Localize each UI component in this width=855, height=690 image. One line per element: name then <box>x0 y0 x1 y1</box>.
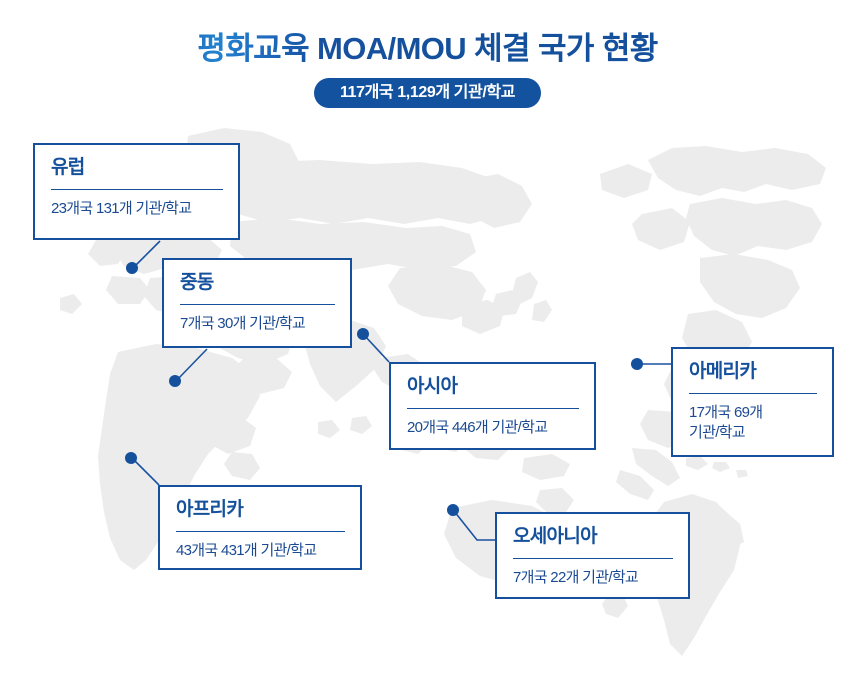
region-card-divider <box>407 408 579 409</box>
region-card-middle-east[interactable]: 중동 7개국 30개 기관/학교 <box>162 258 352 348</box>
region-title-america: 아메리카 <box>689 361 817 383</box>
region-card-divider <box>176 531 345 532</box>
region-card-europe[interactable]: 유럽 23개국 131개 기관/학교 <box>33 143 240 240</box>
infographic-root: 평화교육 MOA/MOU 체결 국가 현황 117개국 1,129개 기관/학교… <box>0 0 855 690</box>
region-title-europe: 유럽 <box>51 157 223 179</box>
region-card-oceania[interactable]: 오세아니아 7개국 22개 기관/학교 <box>495 512 690 599</box>
region-desc-america: 17개국 69개 기관/학교 <box>689 403 817 443</box>
header: 평화교육 MOA/MOU 체결 국가 현황 117개국 1,129개 기관/학교 <box>0 0 855 108</box>
region-card-america[interactable]: 아메리카 17개국 69개 기관/학교 <box>671 347 834 457</box>
region-card-divider <box>180 304 335 305</box>
region-desc-america-line1: 17개국 69개 <box>689 404 762 421</box>
region-card-asia[interactable]: 아시아 20개국 446개 기관/학교 <box>389 362 596 450</box>
region-desc-europe: 23개국 131개 기관/학교 <box>51 199 223 219</box>
region-title-middle-east: 중동 <box>180 272 335 294</box>
region-title-africa: 아프리카 <box>176 499 345 521</box>
region-card-divider <box>689 393 817 394</box>
region-desc-oceania: 7개국 22개 기관/학교 <box>513 568 673 588</box>
region-desc-america-line2: 기관/학교 <box>689 424 745 441</box>
region-desc-africa: 43개국 431개 기관/학교 <box>176 541 345 561</box>
region-desc-asia: 20개국 446개 기관/학교 <box>407 418 579 438</box>
total-count-badge: 117개국 1,129개 기관/학교 <box>314 78 541 109</box>
region-desc-middle-east: 7개국 30개 기관/학교 <box>180 314 335 334</box>
badge-row: 117개국 1,129개 기관/학교 <box>0 78 855 109</box>
region-card-divider <box>51 189 223 190</box>
region-title-asia: 아시아 <box>407 376 579 398</box>
region-title-oceania: 오세아니아 <box>513 526 673 548</box>
region-card-divider <box>513 558 673 559</box>
page-title: 평화교육 MOA/MOU 체결 국가 현황 <box>0 0 855 69</box>
region-card-africa[interactable]: 아프리카 43개국 431개 기관/학교 <box>158 485 362 570</box>
